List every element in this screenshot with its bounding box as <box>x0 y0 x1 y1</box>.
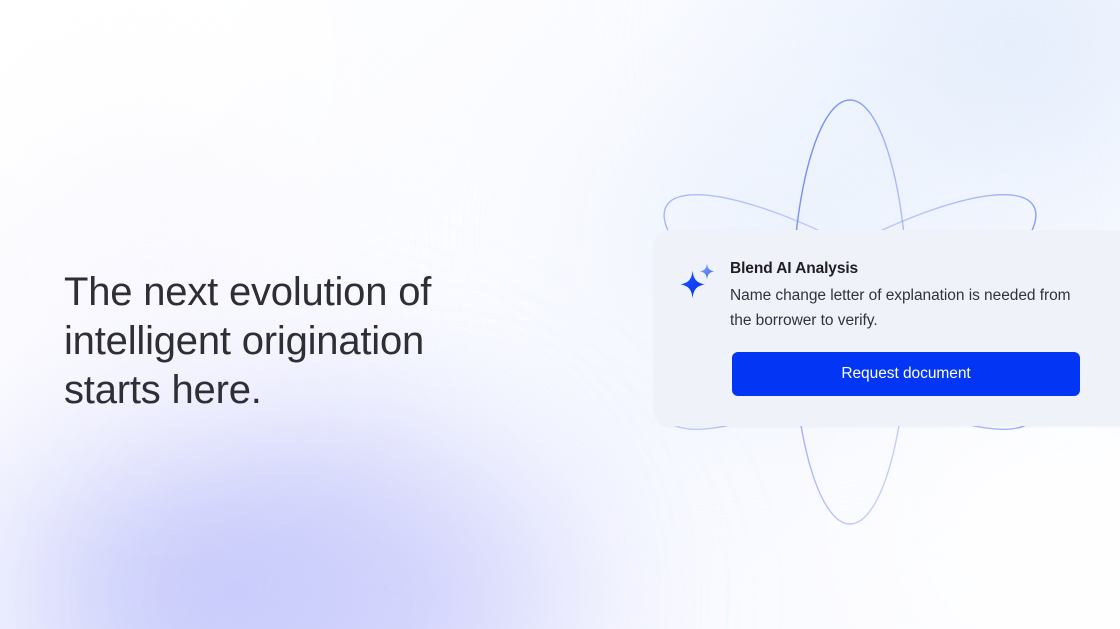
hero-section: The next evolution of intelligent origin… <box>0 0 1120 629</box>
card-description: Name change letter of explanation is nee… <box>730 283 1082 333</box>
blend-ai-analysis-card: Blend AI Analysis Name change letter of … <box>654 230 1120 426</box>
hero-headline: The next evolution of intelligent origin… <box>64 268 494 415</box>
request-document-button[interactable]: Request document <box>732 352 1080 396</box>
ai-sparkle-icon <box>678 262 716 302</box>
card-title: Blend AI Analysis <box>730 260 1120 278</box>
